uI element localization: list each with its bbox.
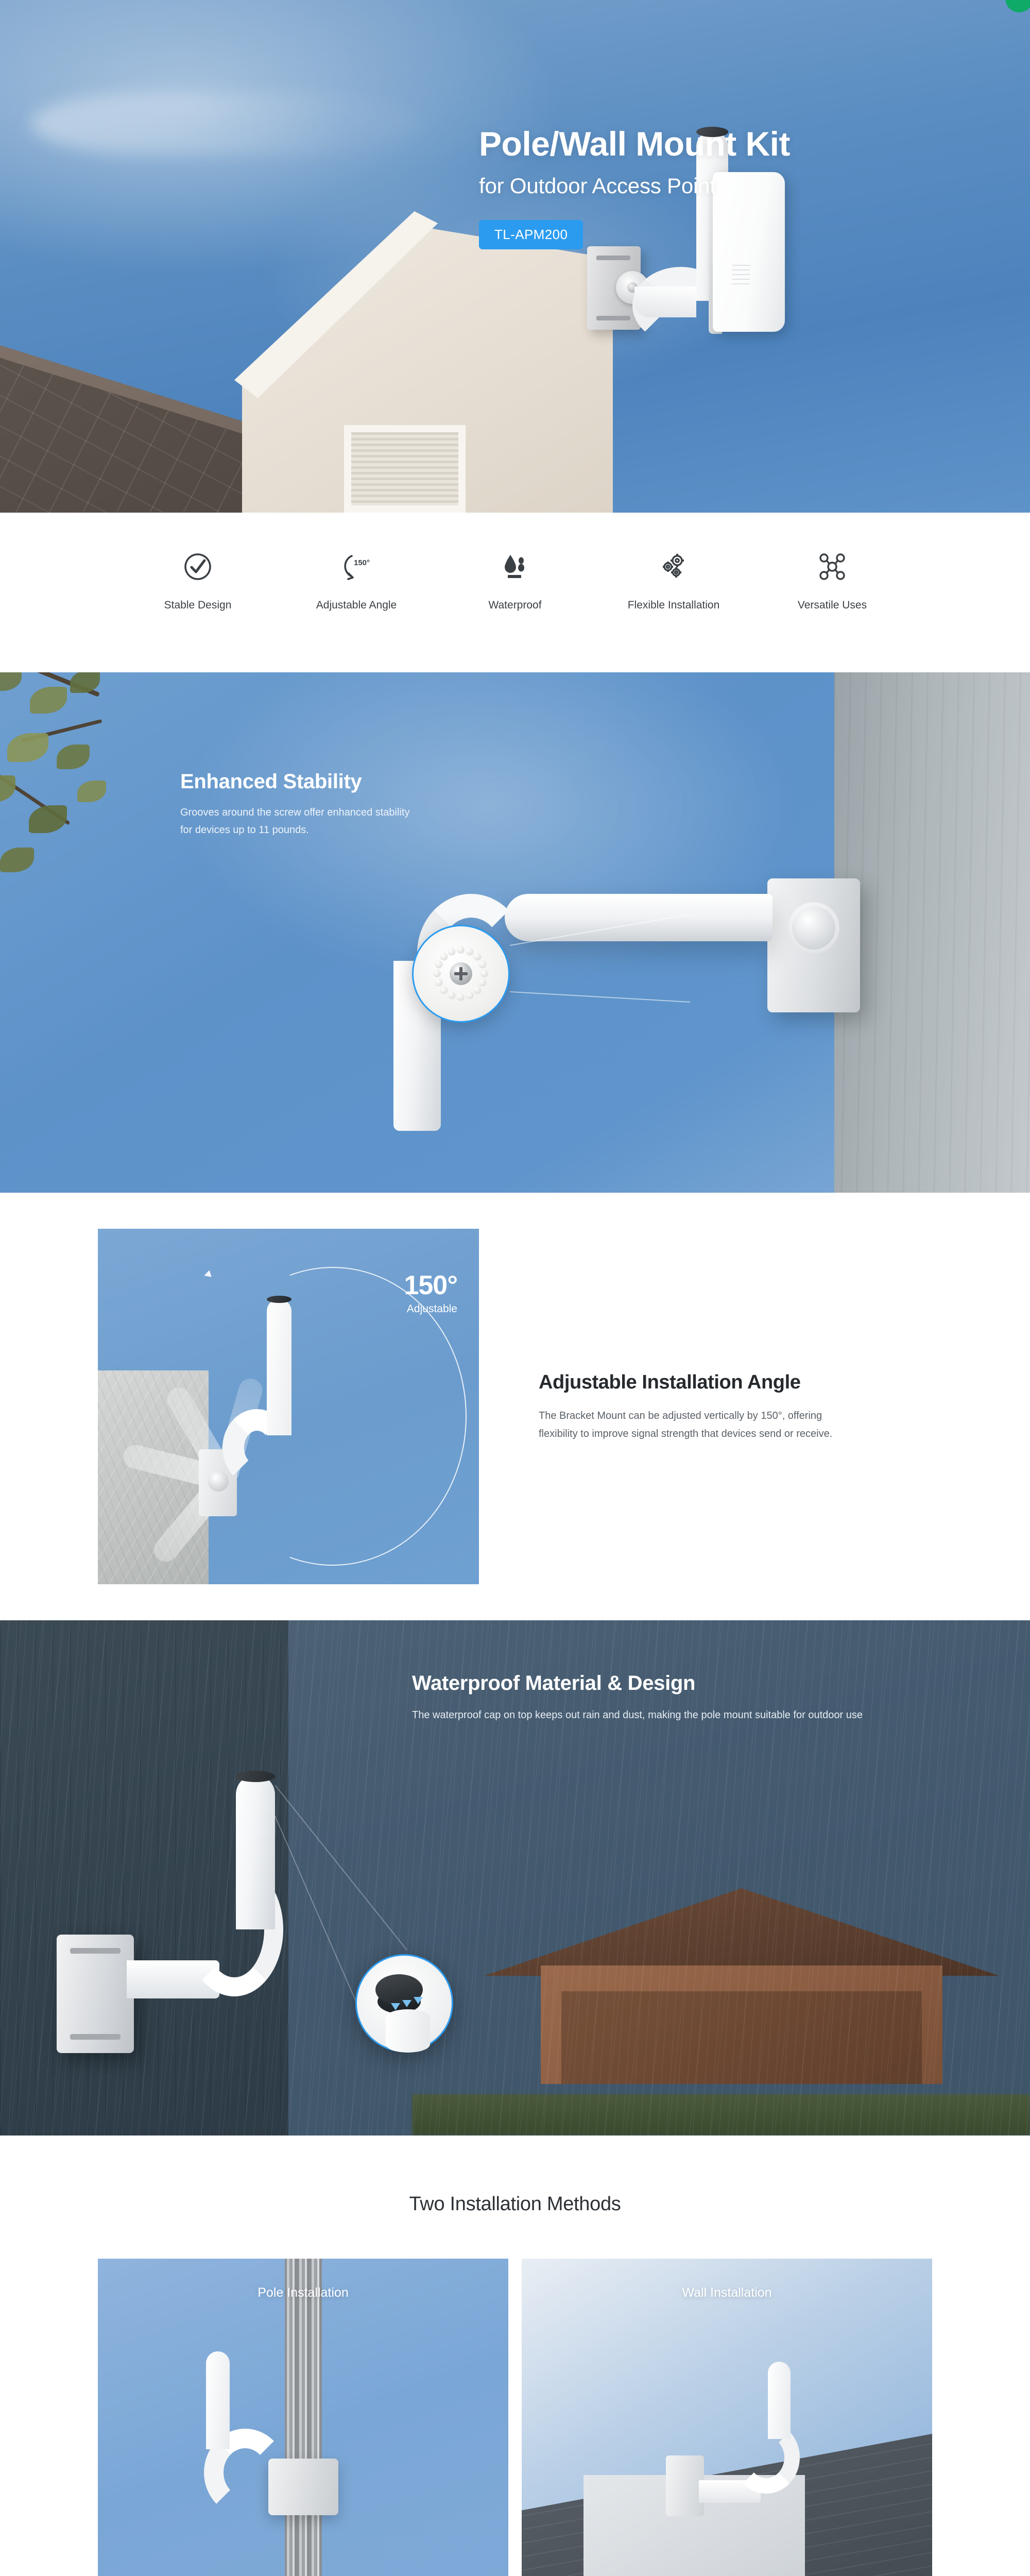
section-title: Enhanced Stability bbox=[180, 770, 422, 793]
feature-label: Adjustable Angle bbox=[316, 597, 397, 614]
install-card-wall[interactable]: Wall Installation bbox=[522, 2259, 932, 2576]
feature-waterproof: Waterproof bbox=[436, 545, 594, 614]
waterproof-text-block: Waterproof Material & Design The waterpr… bbox=[412, 1672, 863, 1724]
angle-value: 150° bbox=[404, 1272, 457, 1299]
rotation-arrowhead bbox=[203, 1270, 212, 1279]
versatile-nodes-icon bbox=[817, 545, 847, 589]
bracket-vertical-arm bbox=[267, 1299, 291, 1435]
stability-section: Enhanced Stability Grooves around the sc… bbox=[0, 672, 1030, 1193]
angle-150-rotation-icon: 150° bbox=[341, 545, 371, 589]
hero-text-block: Pole/Wall Mount Kit for Outdoor Access P… bbox=[479, 126, 790, 249]
window-blind bbox=[351, 432, 458, 505]
angle-section: 150° Adjustable Adjustable Installation … bbox=[0, 1193, 1030, 1620]
phillips-screw-head bbox=[450, 962, 472, 985]
metal-pole bbox=[285, 2259, 322, 2576]
feature-stable-design: Stable Design bbox=[118, 545, 277, 614]
bracket-wall-plate bbox=[666, 2455, 704, 2516]
angle-badge: 150° Adjustable bbox=[404, 1272, 457, 1315]
install-card-label: Wall Installation bbox=[522, 2285, 932, 2300]
section-title: Two Installation Methods bbox=[0, 2193, 1030, 2215]
water-deflect-arrow bbox=[414, 1997, 423, 2004]
stability-text-block: Enhanced Stability Grooves around the sc… bbox=[180, 770, 422, 839]
feature-adjustable-angle: 150° Adjustable Angle bbox=[277, 545, 436, 614]
section-body: The waterproof cap on top keeps out rain… bbox=[412, 1706, 863, 1724]
screw-detail-magnifier bbox=[412, 925, 510, 1023]
section-body: Grooves around the screw offer enhanced … bbox=[180, 804, 422, 839]
feature-highlights: Stable Design 150° Adjustable Angle bbox=[0, 513, 1030, 672]
tube-opening bbox=[386, 2009, 430, 2053]
water-deflect-arrow bbox=[402, 2000, 411, 2007]
section-title: Waterproof Material & Design bbox=[412, 1672, 863, 1695]
feature-label: Waterproof bbox=[488, 597, 541, 614]
waterproof-section: Waterproof Material & Design The waterpr… bbox=[0, 1620, 1030, 2136]
gears-icon bbox=[659, 545, 689, 589]
install-card-label: Pole Installation bbox=[98, 2285, 508, 2300]
bracket-vertical-arm bbox=[206, 2351, 230, 2449]
angle-illustration: 150° Adjustable bbox=[98, 1229, 479, 1584]
model-badge[interactable]: TL-APM200 bbox=[479, 220, 583, 249]
access-point-leds bbox=[732, 265, 750, 287]
feature-versatile-uses: Versatile Uses bbox=[753, 545, 912, 614]
section-body: The Bracket Mount can be adjusted vertic… bbox=[539, 1407, 858, 1443]
feature-flexible-installation: Flexible Installation bbox=[594, 545, 753, 614]
waterproof-cap-magnifier bbox=[355, 1954, 453, 2052]
feature-label: Stable Design bbox=[164, 597, 232, 614]
section-title: Adjustable Installation Angle bbox=[539, 1370, 858, 1395]
pole-clamp bbox=[268, 2459, 338, 2515]
installation-cards: Pole Installation Wall Installation bbox=[98, 2259, 932, 2576]
angle-text-block: Adjustable Installation Angle The Bracke… bbox=[539, 1370, 858, 1443]
installation-methods-section: Two Installation Methods Pole Installati… bbox=[0, 2136, 1030, 2576]
bracket-horizontal-arm bbox=[634, 286, 696, 317]
house-window bbox=[344, 425, 466, 513]
hero-section: Pole/Wall Mount Kit for Outdoor Access P… bbox=[0, 0, 1030, 513]
feature-label: Versatile Uses bbox=[798, 597, 867, 614]
angle-caption: Adjustable bbox=[404, 1303, 457, 1315]
product-page: Pole/Wall Mount Kit for Outdoor Access P… bbox=[0, 0, 1030, 2576]
feature-label: Flexible Installation bbox=[628, 597, 720, 614]
page-title: Pole/Wall Mount Kit bbox=[479, 126, 790, 162]
install-card-pole[interactable]: Pole Installation bbox=[98, 2259, 508, 2576]
svg-text:150°: 150° bbox=[354, 558, 370, 567]
waterproof-cap bbox=[267, 1296, 291, 1303]
magnifier-guide-lines bbox=[0, 672, 1030, 1193]
check-circle-icon bbox=[183, 545, 212, 589]
green-marker-dot bbox=[1005, 0, 1030, 12]
hero-subtitle: for Outdoor Access Point bbox=[479, 174, 790, 198]
grooved-screw-ring bbox=[430, 943, 492, 1005]
water-deflect-arrow bbox=[391, 2003, 400, 2010]
bracket-vertical-arm bbox=[768, 2362, 791, 2439]
water-droplet-icon bbox=[501, 545, 529, 589]
